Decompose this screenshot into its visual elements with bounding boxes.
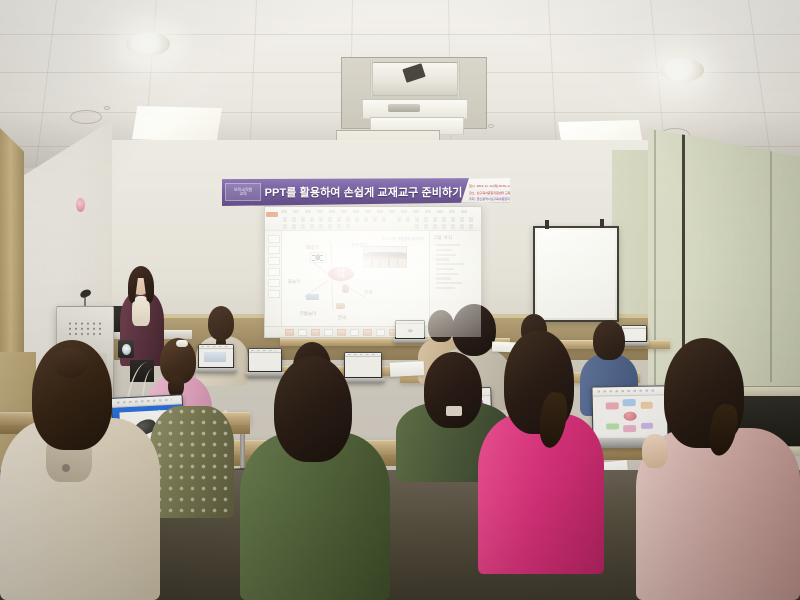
ppt-slide-thumb[interactable]	[268, 257, 280, 265]
banner-tag-line-2: 교육	[239, 192, 246, 196]
attendee-a4	[636, 338, 800, 600]
mindmap-label-2: 윷놀이	[288, 279, 300, 285]
whiteboard-top-bracket-left	[545, 220, 549, 229]
attendee-lanyard	[446, 406, 462, 416]
whiteboard-surface	[537, 230, 615, 318]
ceiling-downlight-left	[126, 32, 170, 56]
filmstrip-thumb[interactable]	[285, 329, 294, 336]
ceiling-sprinkler-left	[104, 106, 110, 110]
hanok-photo	[363, 246, 407, 268]
filmstrip-thumb[interactable]	[350, 329, 359, 336]
projector-lens	[388, 104, 420, 112]
ppt-slide-thumbnail-rail[interactable]	[265, 231, 282, 326]
banner-meta-2: 주최 : 울산광역시남구육아종합지원센터	[469, 196, 510, 201]
ppt-file-tab[interactable]	[266, 212, 278, 218]
mindmap-label-1: 한지접기	[351, 243, 368, 249]
mindmap-center-node: 우리 나라	[328, 267, 354, 281]
mm-node	[623, 425, 636, 432]
ppt-slide-thumb[interactable]	[268, 279, 280, 287]
filmstrip-thumb[interactable]	[363, 329, 372, 336]
attendee-a1	[0, 340, 160, 600]
classroom-training-photograph: 보육교직원 교육 PPT를 활용하여 손쉽게 교재교구 준비하기 일시 : 20…	[0, 0, 800, 600]
powerpoint-ribbon	[265, 207, 481, 231]
filmstrip-thumb[interactable]	[376, 329, 385, 336]
attendee-a2	[240, 356, 390, 600]
banner-meta-0: 일시 : 2019. 11. 14.(목) 09:30~13:30	[469, 183, 510, 188]
filmstrip-thumb[interactable]	[298, 329, 307, 336]
filmstrip-thumb[interactable]	[324, 329, 333, 336]
filmstrip-thumb[interactable]	[337, 329, 346, 336]
banner-meta-1: 장소 : 남구육아종합지원센터 교육실	[469, 190, 510, 195]
podium-speaker-grille	[67, 321, 105, 337]
ceiling-downlight-right	[660, 58, 704, 82]
attendee-hair-clip	[176, 340, 188, 347]
attendee-button	[62, 464, 70, 472]
hanok-roof	[366, 252, 405, 255]
mm-node	[623, 399, 636, 406]
ppt-slide-thumb[interactable]	[268, 235, 280, 243]
ppt-slide-thumb[interactable]	[268, 268, 280, 276]
mindmap-label-0: 태극기	[306, 245, 318, 251]
ceiling-sprinkler-center	[488, 124, 494, 128]
attendee-a13	[150, 370, 234, 520]
ppt-slide-thumb[interactable]	[268, 246, 280, 254]
mindmap-label-4: 한국	[338, 315, 346, 321]
slide-caption: 우리 나라 전통문화 알아보기	[382, 237, 425, 242]
mm-center-node	[624, 412, 637, 421]
traditional-pot-icon	[342, 284, 349, 293]
mindmap-label-5: 한복	[364, 290, 372, 296]
banner-info-block: 일시 : 2019. 11. 14.(목) 09:30~13:30 장소 : 남…	[460, 178, 510, 206]
center-node-line-2: 나라	[337, 274, 345, 279]
mm-node	[606, 423, 619, 430]
ppt-slide-thumb[interactable]	[268, 290, 280, 298]
wall-decoration-sticker	[76, 198, 85, 212]
mm-node	[606, 402, 619, 409]
whiteboard-top-bracket-right	[600, 219, 604, 228]
mindmap-label-3: 전통놀이	[300, 311, 317, 317]
attendee-hand	[642, 434, 668, 468]
korean-flag-image	[310, 252, 326, 263]
ceiling-vent-circle-left	[70, 110, 102, 124]
ppt-slide-canvas[interactable]: 우리 나라 전통문화 알아보기	[282, 231, 429, 326]
attendee-hair	[274, 356, 352, 462]
event-banner: 보육교직원 교육 PPT를 활용하여 손쉽게 교재교구 준비하기 일시 : 20…	[222, 178, 510, 206]
traditional-book-icon	[306, 294, 319, 300]
attendee-hair	[424, 352, 482, 428]
ppt-pane-title: 그림 서식	[433, 235, 478, 241]
attendee-a3	[478, 330, 604, 574]
attendee-bun	[52, 348, 88, 378]
whiteboard	[533, 226, 619, 322]
banner-category-tag: 보육교직원 교육	[225, 183, 261, 201]
traditional-drum-icon	[336, 303, 345, 309]
attendee-pattern	[154, 406, 230, 514]
filmstrip-thumb[interactable]	[311, 329, 320, 336]
ceiling-panel-light-left	[132, 106, 222, 142]
